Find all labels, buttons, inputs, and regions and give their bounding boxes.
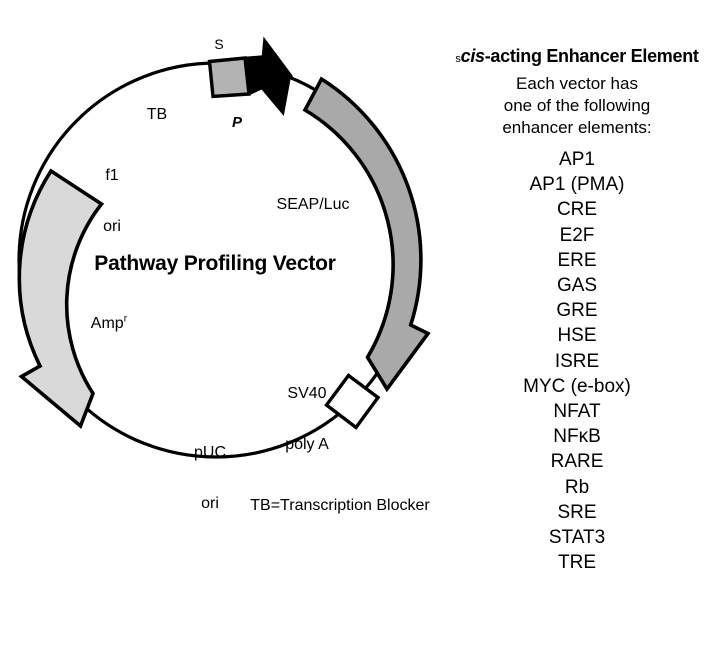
label-puc-ori: pUC ori [180,410,240,546]
enhancer-element-panel: scis-acting Enhancer Element Each vector… [440,46,714,594]
list-item: GAS [440,273,714,298]
label-f1-ori-line2: ori [88,218,136,235]
label-sv40-line1: SV40 [268,385,346,402]
list-item: TRE [440,550,714,575]
list-item: NFAT [440,399,714,424]
label-transcription-blocker: TB [137,106,177,123]
list-item: CRE [440,197,714,222]
list-item: GRE [440,298,714,323]
enhancer-intro-line-3: enhancer elements: [440,117,714,139]
list-item: HSE [440,323,714,348]
label-puc-ori-line1: pUC [180,444,240,461]
label-promoter: P [224,114,250,131]
label-seap-luc: SEAP/Luc [258,196,368,213]
list-item: STAT3 [440,525,714,550]
enhancer-intro: Each vector has one of the following enh… [440,73,714,139]
vector-map-figure: S P TB f1 ori SEAP/Luc Ampr SV40 poly A … [0,0,714,645]
list-item: ERE [440,248,714,273]
label-amp-resistance: Ampr [65,298,135,349]
label-sv40-polya: SV40 poly A [268,351,346,487]
list-item: AP1 [440,147,714,172]
list-item: ISRE [440,349,714,374]
label-amp-text: Amp [91,315,124,332]
list-item: Rb [440,475,714,500]
enhancer-heading-rest: -acting Enhancer Element [485,46,699,66]
list-item: MYC (e-box) [440,374,714,399]
list-item: E2F [440,223,714,248]
enhancer-intro-line-2: one of the following [440,95,714,117]
enhancer-heading-cis: cis [461,46,485,66]
label-sv40-line2: poly A [268,436,346,453]
label-f1-ori: f1 ori [88,133,136,269]
list-item: NFκB [440,424,714,449]
list-item: AP1 (PMA) [440,172,714,197]
label-amp-superscript: r [124,314,127,325]
enhancer-element-list: AP1 AP1 (PMA) CRE E2F ERE GAS GRE HSE IS… [440,147,714,575]
promoter-arrow [245,40,292,113]
page-title: Pathway Profiling Vector [0,252,430,276]
label-f1-ori-line1: f1 [88,167,136,184]
list-item: SRE [440,500,714,525]
plasmid-map-panel: S P TB f1 ori SEAP/Luc Ampr SV40 poly A … [0,0,440,645]
enhancer-heading: scis-acting Enhancer Element [440,46,714,67]
seap-luc-arrow [305,79,428,389]
enhancer-intro-line-1: Each vector has [440,73,714,95]
label-s: S [206,36,232,53]
s-box [210,58,250,97]
list-item: RARE [440,449,714,474]
